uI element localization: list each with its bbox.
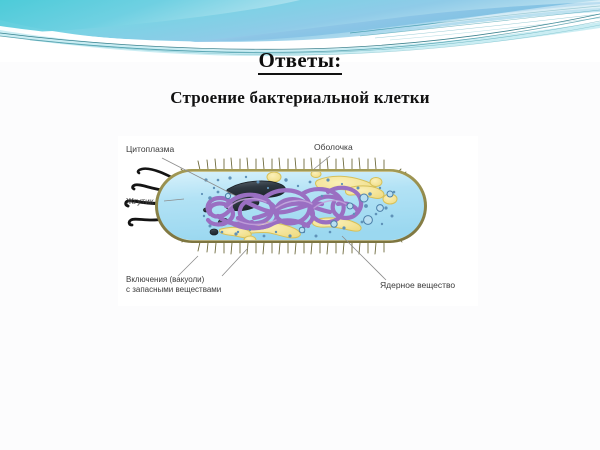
granule-8 [225,193,230,198]
title-block: Ответы: [0,48,600,75]
granule-1 [360,194,368,202]
label-nucleoid: Ядерное вещество [380,280,455,290]
granule-6 [331,221,337,227]
granule-3 [364,216,373,225]
subtitle-block: Строение бактериальной клетки [0,88,600,108]
label-flagellum: Жгутик [126,196,154,206]
label-membrane: Оболочка [314,142,353,152]
bacterial-cell-figure: Цитоплазма Оболочка Жгутик Включения (ва… [118,136,478,306]
slide-canvas: Ответы: Строение бактериальной клетки [0,0,600,450]
granule-4 [347,203,353,209]
inclusion-small-2 [210,229,218,235]
label-inclusions-line2: с запасными веществами [126,285,221,294]
label-inclusions-line1: Включения (вакуоли) [126,275,205,284]
granule-7 [299,227,305,233]
granule-5 [387,191,393,197]
page-title: Ответы: [258,48,341,75]
page-subtitle: Строение бактериальной клетки [170,88,430,107]
label-cytoplasm: Цитоплазма [126,144,174,154]
vacuole-small-1 [267,172,281,182]
granule-2 [377,205,384,212]
vacuole-small-2 [370,178,382,187]
